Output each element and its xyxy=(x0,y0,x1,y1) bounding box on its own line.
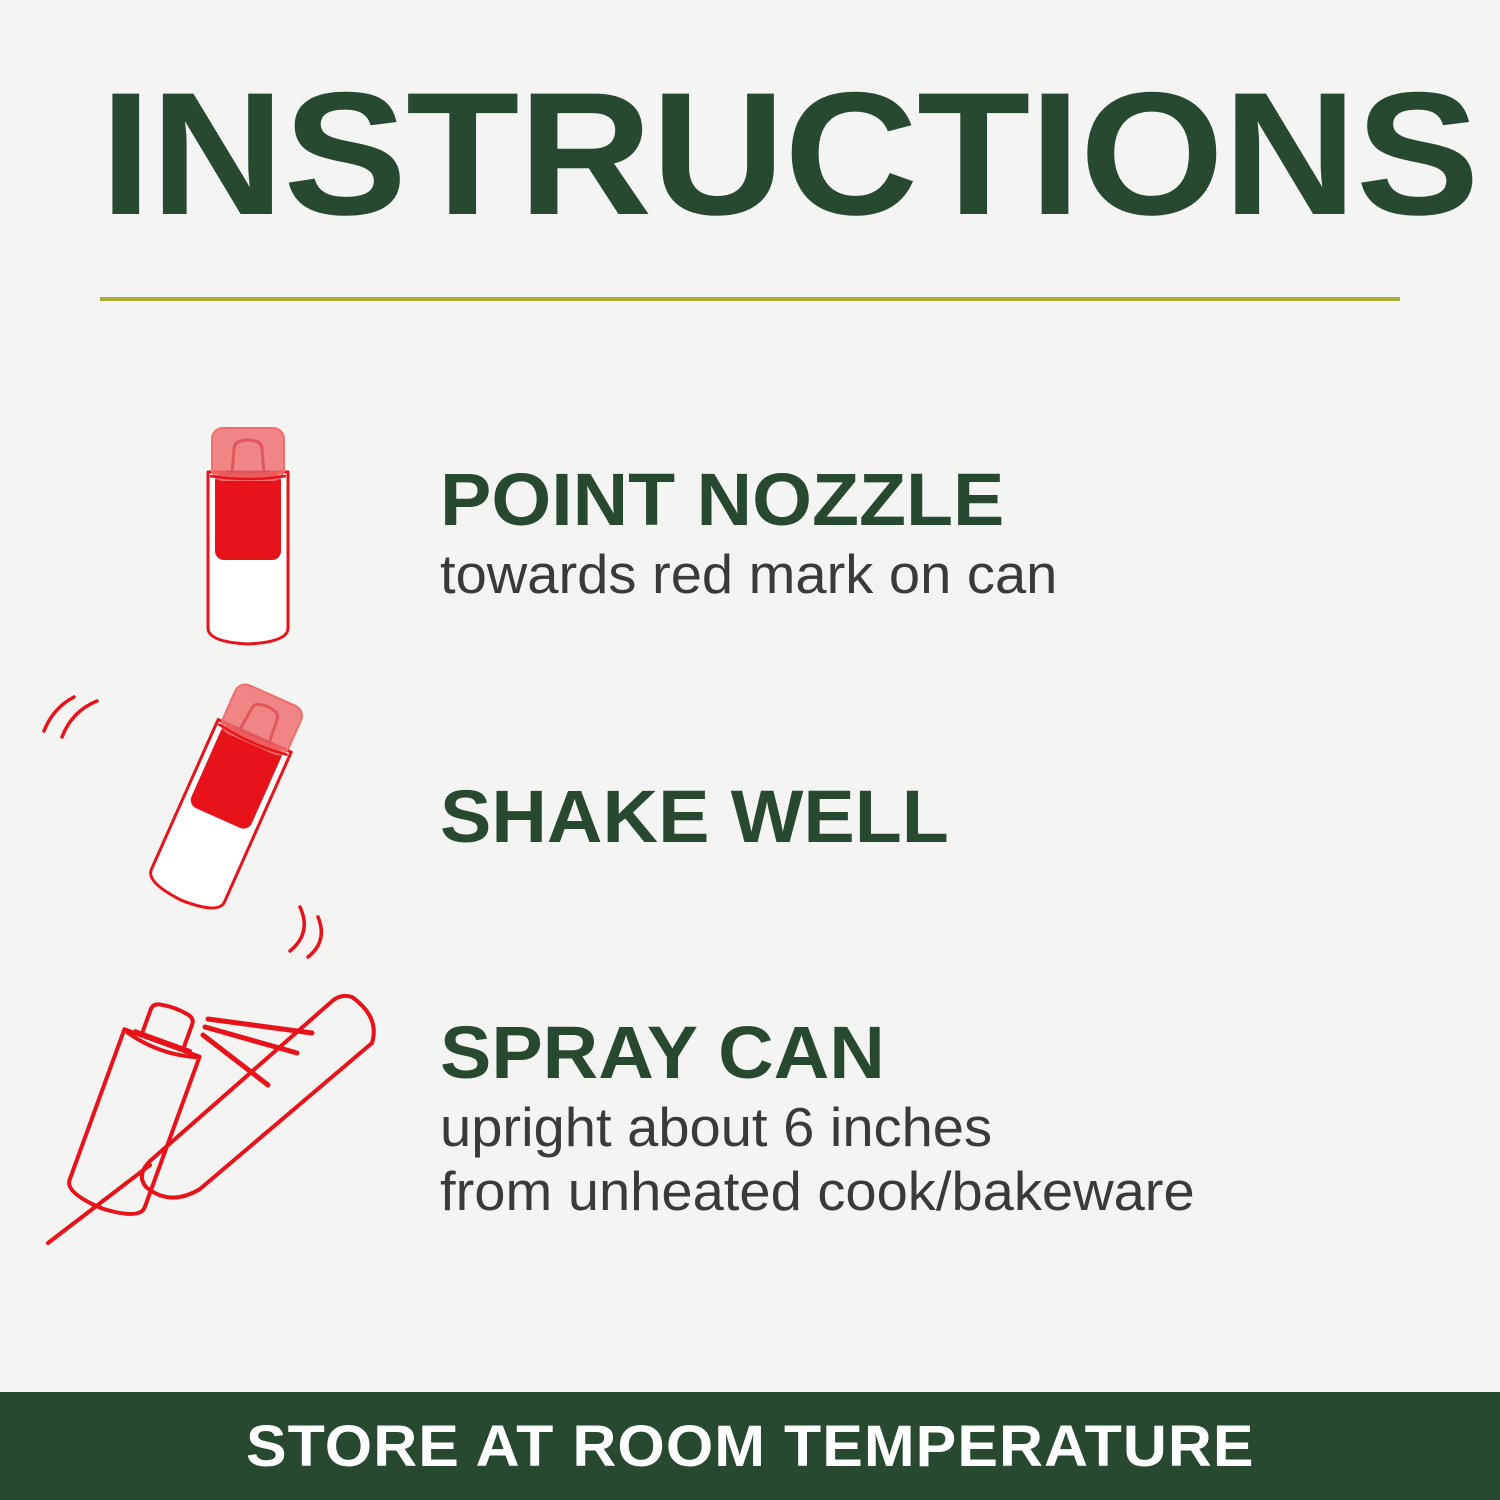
step-text: SHAKE WELL xyxy=(430,780,1500,860)
step-heading: SPRAY CAN xyxy=(440,1016,1500,1090)
step-heading: POINT NOZZLE xyxy=(440,463,1500,537)
spray-can-spraying-pan-icon xyxy=(0,975,430,1265)
spray-can-upright-icon xyxy=(0,410,430,660)
step-text: SPRAY CAN upright about 6 inches from un… xyxy=(430,1016,1500,1224)
steps-list: POINT NOZZLE towards red mark on can xyxy=(0,400,1500,1270)
instructions-panel: INSTRUCTIONS xyxy=(0,0,1500,1500)
title-divider xyxy=(100,297,1400,301)
step-item: SPRAY CAN upright about 6 inches from un… xyxy=(0,970,1500,1270)
step-item: POINT NOZZLE towards red mark on can xyxy=(0,400,1500,670)
step-subtext: upright about 6 inches from unheated coo… xyxy=(440,1096,1500,1224)
footer-banner: STORE AT ROOM TEMPERATURE xyxy=(0,1392,1500,1500)
step-subtext: towards red mark on can xyxy=(440,543,1500,607)
title-block: INSTRUCTIONS xyxy=(100,78,1400,232)
step-item: SHAKE WELL xyxy=(0,670,1500,970)
step-heading: SHAKE WELL xyxy=(440,780,1500,854)
footer-text: STORE AT ROOM TEMPERATURE xyxy=(246,1413,1255,1480)
step-text: POINT NOZZLE towards red mark on can xyxy=(430,463,1500,607)
page-title: INSTRUCTIONS xyxy=(100,78,1478,232)
spray-can-shaking-icon xyxy=(0,675,430,965)
